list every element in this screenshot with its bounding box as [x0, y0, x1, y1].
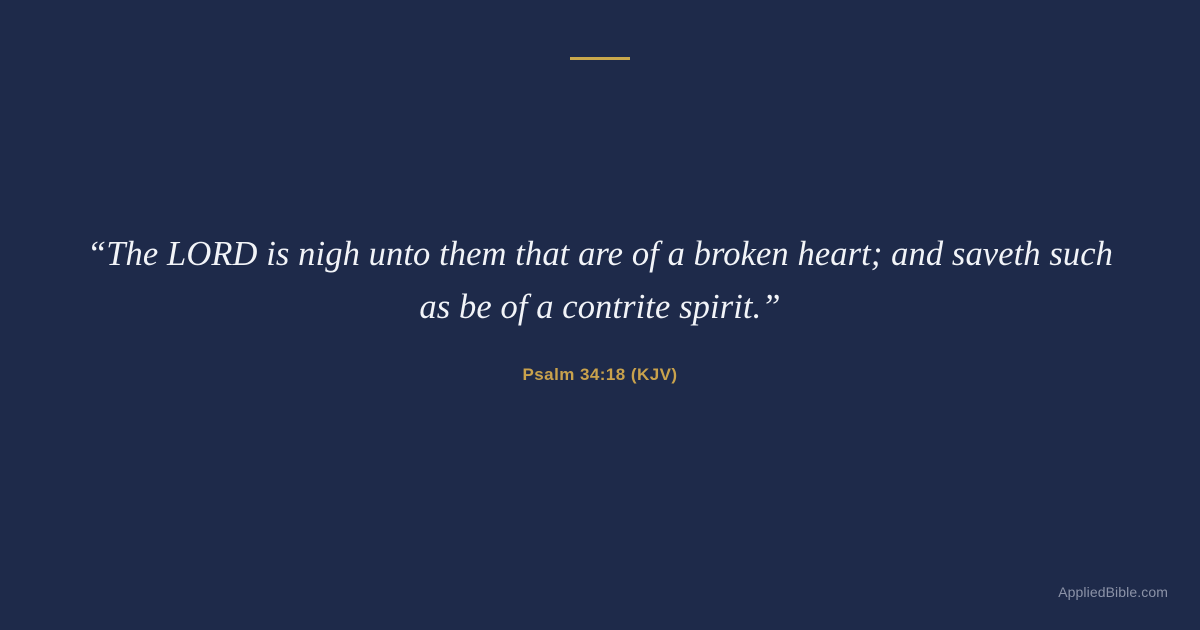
quote-content-block: “The LORD is nigh unto them that are of … — [0, 0, 1200, 630]
verse-quote-card: “The LORD is nigh unto them that are of … — [0, 0, 1200, 630]
verse-citation: Psalm 34:18 (KJV) — [522, 365, 677, 385]
site-watermark: AppliedBible.com — [1058, 584, 1168, 600]
verse-quote-text: “The LORD is nigh unto them that are of … — [78, 228, 1122, 334]
